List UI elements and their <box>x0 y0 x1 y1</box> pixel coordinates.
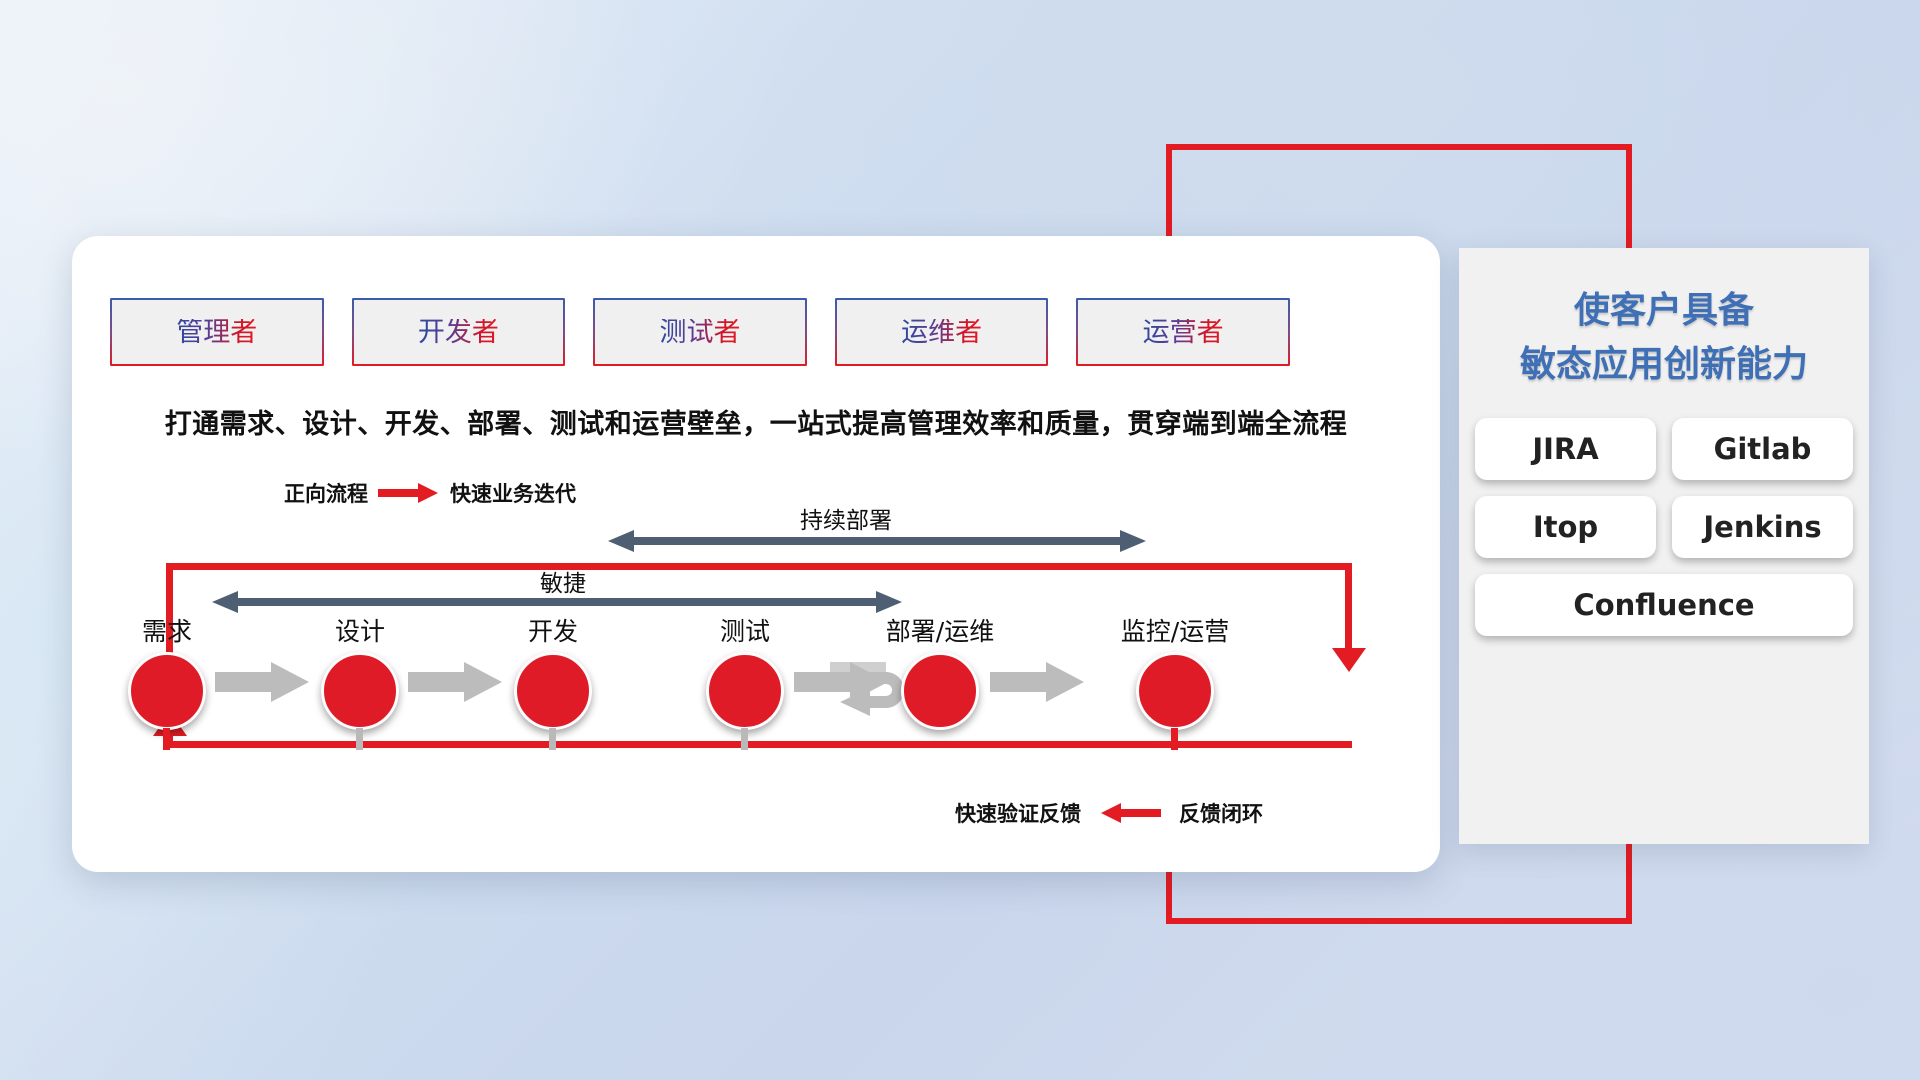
stage-node-icon <box>321 652 399 730</box>
tool-chip-jenkins[interactable]: Jenkins <box>1672 496 1853 558</box>
stage-label: 开发 <box>488 612 618 648</box>
stage-node-icon <box>1136 652 1214 730</box>
role-label: 测试者 <box>659 319 740 346</box>
pipeline-stage-development[interactable]: 开发 <box>488 612 618 730</box>
forward-flow-left-label: 正向流程 <box>284 478 368 508</box>
role-box-developer[interactable]: 开发者 <box>352 298 566 366</box>
stage-stem-development <box>549 728 556 750</box>
panel-title-line1: 使客户具备 <box>1469 284 1859 338</box>
panel-title: 使客户具备 敏态应用创新能力 <box>1459 248 1869 392</box>
stage-stem-requirements <box>163 728 170 750</box>
continuous-deployment-arrow-icon <box>608 528 1146 554</box>
stage-node-icon <box>128 652 206 730</box>
forward-flow-right-label: 快速业务迭代 <box>450 478 576 508</box>
stage-label: 需求 <box>102 612 232 648</box>
panel-title-line2: 敏态应用创新能力 <box>1469 338 1859 392</box>
stage-node-icon <box>901 652 979 730</box>
description-text: 打通需求、设计、开发、部署、测试和运营壁垒，一站式提高管理效率和质量，贯穿端到端… <box>72 402 1440 441</box>
stage-stem-testing <box>741 728 748 750</box>
role-label: 开发者 <box>418 319 499 346</box>
stage-label: 监控/运营 <box>1110 612 1240 648</box>
forward-flow-legend: 正向流程 快速业务迭代 <box>284 478 576 508</box>
tool-chip-gitlab[interactable]: Gitlab <box>1672 418 1853 480</box>
pipeline-stage-testing[interactable]: 测试 <box>680 612 810 730</box>
chevron-arrow-icon <box>990 662 1086 702</box>
feedback-right-label: 反馈闭环 <box>1179 798 1263 828</box>
feedback-rail-top <box>166 563 1352 570</box>
role-box-ops[interactable]: 运维者 <box>835 298 1049 366</box>
tool-chip-confluence[interactable]: Confluence <box>1475 574 1853 636</box>
pipeline-stage-requirements[interactable]: 需求 <box>102 612 232 730</box>
tool-chip-itop[interactable]: Itop <box>1475 496 1656 558</box>
pipeline-stage-monitor-operations[interactable]: 监控/运营 <box>1110 612 1240 730</box>
role-label: 管理者 <box>176 319 257 346</box>
stage-stem-design <box>356 728 363 750</box>
left-arrow-icon <box>1099 803 1161 823</box>
stage-label: 设计 <box>295 612 425 648</box>
role-label: 运维者 <box>901 319 982 346</box>
role-box-row: 管理者 开发者 测试者 运维者 运营者 <box>110 298 1290 366</box>
role-box-manager[interactable]: 管理者 <box>110 298 324 366</box>
pipeline-stage-design[interactable]: 设计 <box>295 612 425 730</box>
role-box-tester[interactable]: 测试者 <box>593 298 807 366</box>
tool-chip-jira[interactable]: JIRA <box>1475 418 1656 480</box>
stage-label: 部署/运维 <box>875 612 1005 648</box>
value-panel: 使客户具备 敏态应用创新能力 JIRA Gitlab Itop Jenkins … <box>1459 248 1869 844</box>
pipeline-row: 需求 设计 开发 测试 部署/运维 监控/运营 <box>110 612 1390 742</box>
role-label: 运营者 <box>1143 319 1224 346</box>
stage-stem-monitor <box>1171 728 1178 750</box>
tool-chip-list: JIRA Gitlab Itop Jenkins Confluence <box>1475 418 1853 636</box>
pipeline-stage-deploy-ops[interactable]: 部署/运维 <box>875 612 1005 730</box>
right-arrow-icon <box>378 483 440 503</box>
feedback-loop-legend: 快速验证反馈 反馈闭环 <box>955 798 1263 828</box>
stage-node-icon <box>514 652 592 730</box>
role-box-operations[interactable]: 运营者 <box>1076 298 1290 366</box>
feedback-left-label: 快速验证反馈 <box>955 798 1081 828</box>
stage-label: 测试 <box>680 612 810 648</box>
stage-node-icon <box>706 652 784 730</box>
